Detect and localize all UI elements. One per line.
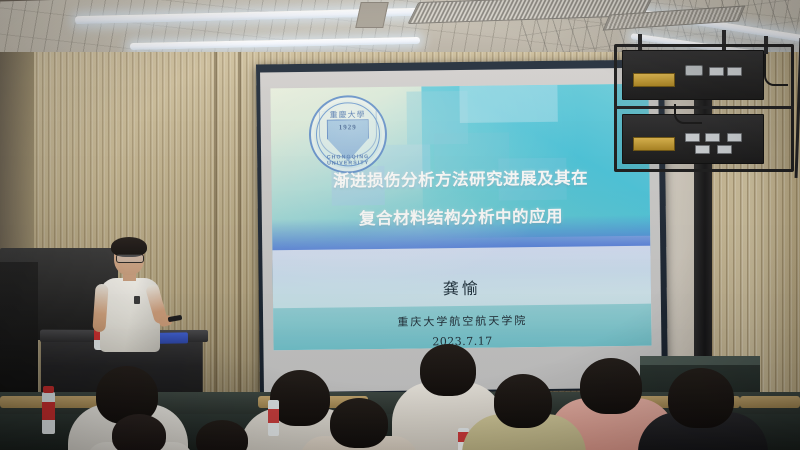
slide-decor-square: [459, 85, 558, 123]
chongqing-university-seal-icon: 重慶大學 1929 CHONGQING UNIVERSITY: [308, 95, 387, 174]
audience-member-8-head: [668, 368, 734, 428]
av-unit-label-plate: [633, 137, 675, 151]
av-unit-button: [705, 133, 720, 142]
wall-side-board: [0, 262, 38, 392]
ceiling-junction-box: [355, 2, 389, 28]
rack-cross-bar: [614, 106, 794, 109]
slide-title-line-2: 复合材料结构分析中的应用: [272, 202, 650, 231]
bottle-cap: [43, 386, 54, 393]
slide-presenter-name: 龚愉: [273, 272, 651, 301]
av-unit-upper: [622, 50, 764, 100]
wall-seam-2: [238, 52, 241, 450]
eyeglasses-icon: [116, 254, 144, 263]
bottle-label: [268, 409, 279, 423]
audience-member-5-head: [420, 344, 476, 396]
presenter-shirt-logo: [134, 296, 140, 304]
av-unit-label-plate: [633, 73, 675, 87]
audience-member-3-head: [270, 370, 330, 426]
wall-seam-1: [214, 52, 217, 450]
audience-member-6-head: [494, 374, 552, 428]
av-unit-button: [717, 145, 732, 154]
rack-cable: [764, 54, 788, 86]
lecture-hall-photo: 重慶大學 1929 CHONGQING UNIVERSITY 渐进损伤分析方法研…: [0, 0, 800, 450]
av-unit-button: [695, 145, 710, 154]
slide-title-line-1: 渐进损伤分析方法研究进展及其在: [271, 164, 649, 193]
bottle-desk-left: [42, 392, 55, 434]
seal-year: 1929: [339, 124, 357, 132]
projected-title-slide: 重慶大學 1929 CHONGQING UNIVERSITY 渐进损伤分析方法研…: [270, 84, 651, 351]
av-unit-button: [727, 133, 742, 142]
rack-cable: [674, 104, 702, 124]
presenter-standing: [96, 240, 168, 360]
bottle-label: [42, 402, 55, 420]
projector-lens-icon: [685, 65, 703, 76]
desk-top-edge: [640, 356, 760, 365]
bottle-desk-center: [268, 400, 279, 436]
lecture-desk: [740, 396, 800, 408]
seal-arc-bottom-text: CHONGQING UNIVERSITY: [311, 154, 385, 167]
audience-member-7-head: [580, 358, 642, 414]
av-unit-button: [727, 67, 742, 76]
av-unit-button: [685, 133, 700, 142]
audience-member-4-head: [330, 398, 388, 448]
audience-member-2-head: [112, 414, 166, 450]
av-unit-button: [709, 67, 724, 76]
ceiling-mounted-av-rack: [614, 44, 794, 172]
